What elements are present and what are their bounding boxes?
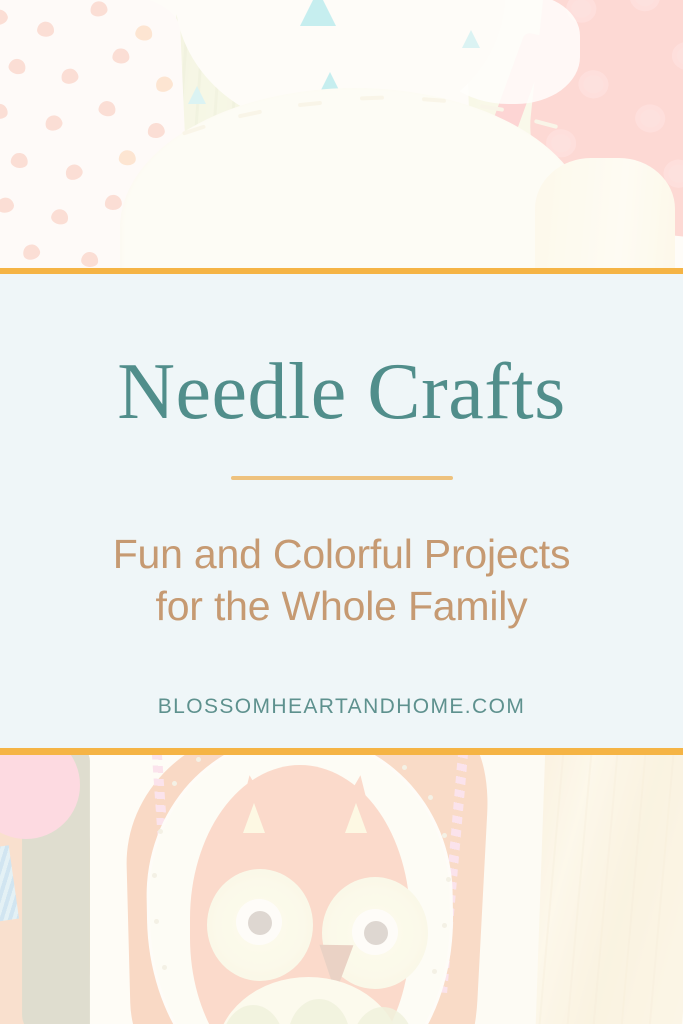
pin-text-card: Needle Crafts Fun and Colorful Projects … xyxy=(0,274,683,748)
subtitle: Fun and Colorful Projects for the Whole … xyxy=(113,528,571,633)
bottom-divider-rule xyxy=(0,748,683,755)
turquoise-triangle-1 xyxy=(300,0,336,26)
subtitle-line-2: for the Whole Family xyxy=(113,580,571,632)
owl-pupil-left xyxy=(248,911,272,935)
owl-pupil-right xyxy=(364,921,388,945)
top-photo-artwork xyxy=(0,0,683,268)
subtitle-line-1: Fun and Colorful Projects xyxy=(113,531,571,577)
website-url: BLOSSOMHEARTANDHOME.COM xyxy=(158,695,525,719)
bottom-craft-photo xyxy=(0,755,683,1024)
turquoise-triangle-4 xyxy=(462,30,480,48)
turquoise-triangle-5 xyxy=(188,86,206,104)
bottom-photo-artwork xyxy=(0,755,683,1024)
title-underline-divider xyxy=(231,476,453,480)
top-craft-photo xyxy=(0,0,683,268)
yellow-fabric-right xyxy=(535,158,675,268)
owl-ear-tuft-left xyxy=(243,803,265,833)
pinterest-pin-graphic: Needle Crafts Fun and Colorful Projects … xyxy=(0,0,683,1024)
page-title: Needle Crafts xyxy=(117,352,566,432)
owl-ear-tuft-right xyxy=(345,803,367,833)
